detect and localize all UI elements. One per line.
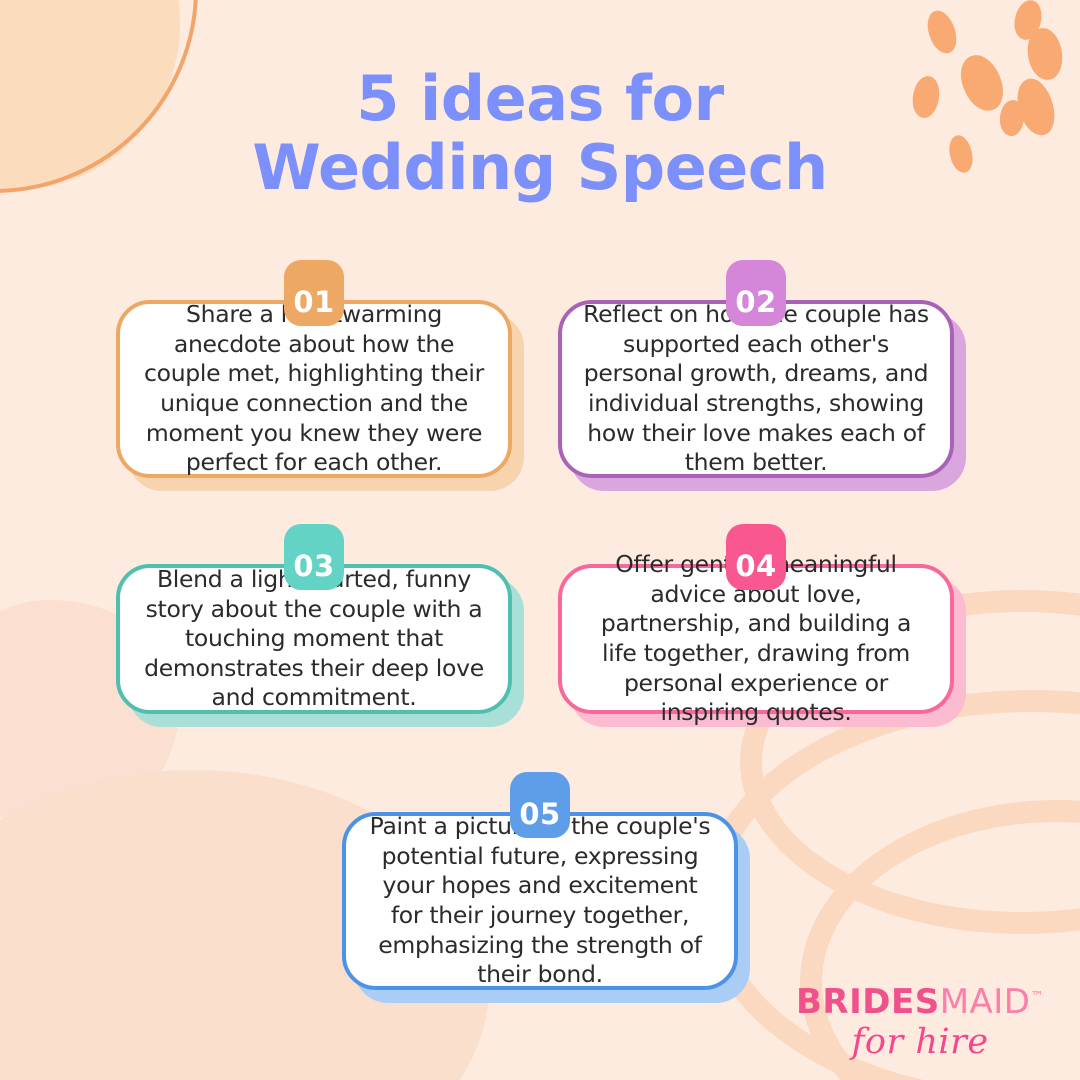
card-body-02: Reflect on how the couple has supported … [558, 300, 954, 478]
card-number-label-01: 01 [293, 285, 334, 319]
card-text-02: Reflect on how the couple has supported … [582, 300, 930, 478]
logo-word-maid: MAID [940, 982, 1031, 1022]
card-body-05: Paint a picture of the couple's potentia… [342, 812, 738, 990]
idea-card-02: Reflect on how the couple has supported … [558, 300, 954, 478]
card-number-badge-03: 03 [284, 524, 344, 590]
title-line-2: Wedding Speech [0, 133, 1080, 202]
brand-logo: BRIDESMAID™ for hire [796, 985, 1044, 1060]
card-number-badge-05: 05 [510, 772, 570, 838]
card-number-label-04: 04 [735, 549, 776, 583]
card-number-badge-02: 02 [726, 260, 786, 326]
trademark-icon: ™ [1031, 990, 1045, 1005]
idea-card-01: Share a heartwarming anecdote about how … [116, 300, 512, 478]
idea-card-03: Blend a lighthearted, funny story about … [116, 564, 512, 714]
card-text-05: Paint a picture of the couple's potentia… [366, 812, 714, 990]
card-number-label-02: 02 [735, 285, 776, 319]
idea-card-05: Paint a picture of the couple's potentia… [342, 812, 738, 990]
logo-tagline: for hire [796, 1025, 1044, 1060]
card-body-01: Share a heartwarming anecdote about how … [116, 300, 512, 478]
card-number-badge-04: 04 [726, 524, 786, 590]
logo-wordmark: BRIDESMAID™ [796, 985, 1044, 1019]
card-number-badge-01: 01 [284, 260, 344, 326]
card-text-01: Share a heartwarming anecdote about how … [140, 300, 488, 478]
card-number-label-03: 03 [293, 549, 334, 583]
page-title: 5 ideas for Wedding Speech [0, 64, 1080, 203]
title-line-1: 5 ideas for [0, 64, 1080, 133]
logo-word-brides: BRIDES [796, 982, 940, 1022]
infographic-poster: 5 ideas for Wedding Speech Share a heart… [0, 0, 1080, 1080]
card-number-label-05: 05 [519, 797, 560, 831]
idea-card-04: Offer gentle, meaningful advice about lo… [558, 564, 954, 714]
